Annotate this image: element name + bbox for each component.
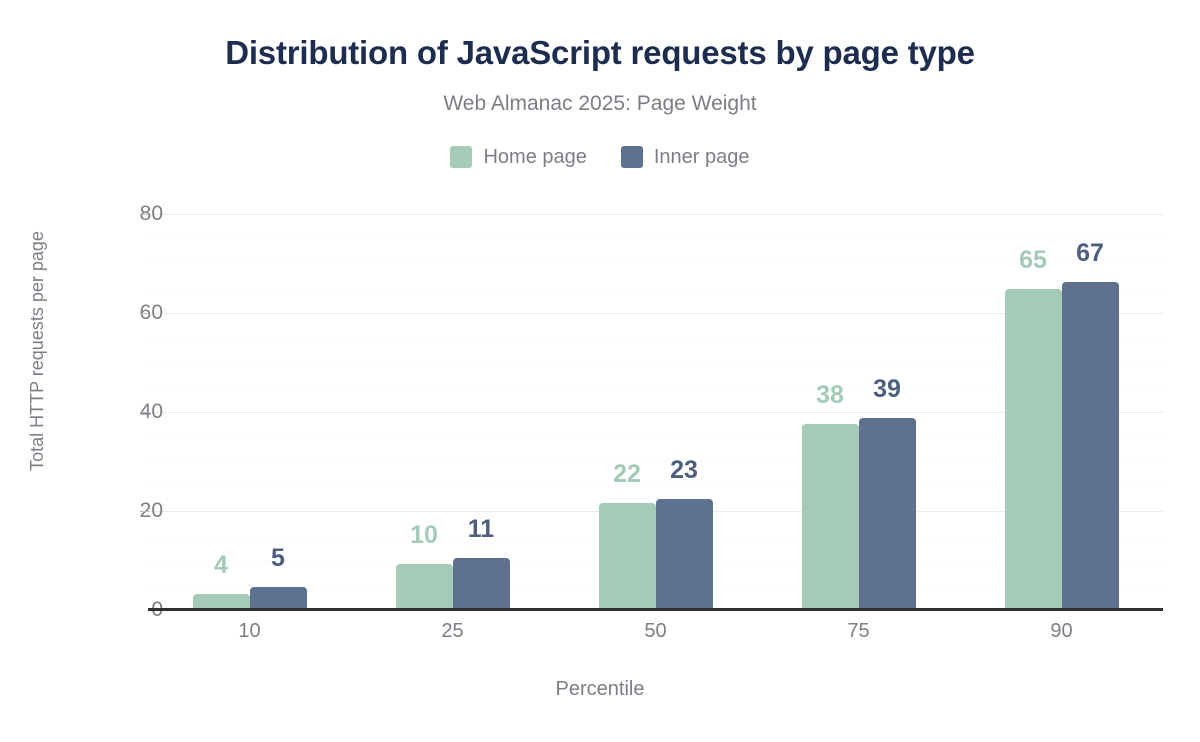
legend-label: Inner page [654,146,750,168]
bar-group-10: 45 [193,204,307,610]
chart-legend: Home pageInner page [0,142,1200,172]
y-tick-label: 80 [83,202,163,226]
y-axis-title: Total HTTP requests per page [26,161,48,541]
bar-home-25[interactable] [396,564,453,610]
bar-value-label-inner-90: 67 [1062,238,1119,268]
chart-figure: Distribution of JavaScript requests by p… [0,0,1200,742]
y-tick-mark [140,214,149,215]
bar-value-label-home-50: 22 [599,459,656,489]
bar-group-75: 3839 [802,204,916,610]
bar-inner-25[interactable] [453,558,510,610]
x-tick-label-50: 50 [576,618,736,644]
y-tick-mark [140,313,149,314]
bar-group-90: 6567 [1005,204,1119,610]
legend-label: Home page [483,146,586,168]
plot-area: 451011222338396567 [148,204,1163,610]
legend-item-home-page[interactable]: Home page [450,146,586,168]
bar-value-label-inner-50: 23 [656,455,713,485]
y-tick-mark [140,511,149,512]
x-tick-label-25: 25 [373,618,533,644]
y-tick-label: 60 [83,301,163,325]
y-tick-label: 20 [83,499,163,523]
legend-item-inner-page[interactable]: Inner page [621,146,750,168]
bar-value-label-inner-75: 39 [859,374,916,404]
bar-group-25: 1011 [396,204,510,610]
bar-inner-75[interactable] [859,418,916,610]
x-axis-title: Percentile [0,676,1200,702]
bar-inner-50[interactable] [656,499,713,610]
bars-layer: 451011222338396567 [148,204,1163,610]
y-tick-mark [140,412,149,413]
x-tick-label-10: 10 [170,618,330,644]
bar-value-label-inner-10: 5 [250,543,307,573]
bar-group-50: 2223 [599,204,713,610]
bar-home-50[interactable] [599,503,656,610]
bar-value-label-home-75: 38 [802,380,859,410]
bar-value-label-home-90: 65 [1005,245,1062,275]
bar-home-75[interactable] [802,424,859,610]
bar-value-label-inner-25: 11 [453,514,510,544]
x-tick-label-90: 90 [982,618,1142,644]
legend-swatch-icon [450,146,472,168]
chart-title: Distribution of JavaScript requests by p… [0,31,1200,75]
bar-inner-10[interactable] [250,587,307,610]
y-tick-label: 40 [83,400,163,424]
x-axis-line [148,608,1163,611]
bar-value-label-home-25: 10 [396,520,453,550]
x-tick-label-75: 75 [779,618,939,644]
chart-subtitle: Web Almanac 2025: Page Weight [0,90,1200,118]
legend-swatch-icon [621,146,643,168]
bar-value-label-home-10: 4 [193,550,250,580]
bar-home-90[interactable] [1005,289,1062,610]
bar-inner-90[interactable] [1062,282,1119,610]
